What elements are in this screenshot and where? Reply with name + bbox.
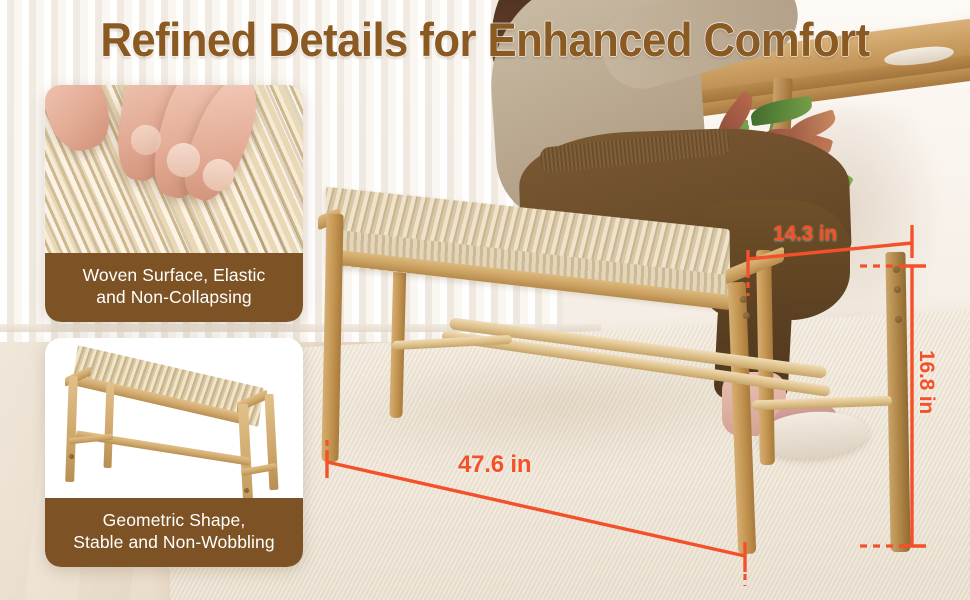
screw xyxy=(894,286,901,293)
screw xyxy=(69,454,74,459)
product-feature-banner: Refined Details for Enhanced Comfort Wov… xyxy=(0,0,970,600)
caption-line-2: Stable and Non-Wobbling xyxy=(55,531,293,553)
feature-card-geometric-shape: Geometric Shape, Stable and Non-Wobbling xyxy=(45,338,303,567)
screw xyxy=(244,488,249,493)
screw xyxy=(895,316,902,323)
feature-card-woven-surface: Woven Surface, Elastic and Non-Collapsin… xyxy=(45,85,303,322)
depth-dimension-label: 14.3 in xyxy=(773,222,837,246)
feature-card-caption: Woven Surface, Elastic and Non-Collapsin… xyxy=(45,253,303,322)
caption-line-1: Geometric Shape, xyxy=(55,509,293,531)
caption-line-2: and Non-Collapsing xyxy=(55,286,293,308)
feature-card-caption: Geometric Shape, Stable and Non-Wobbling xyxy=(45,498,303,567)
screw xyxy=(743,312,750,319)
width-dimension-label: 47.6 in xyxy=(458,451,531,479)
screw xyxy=(740,296,747,303)
screw xyxy=(893,266,900,273)
woven-surface-closeup-photo xyxy=(45,85,303,253)
page-title: Refined Details for Enhanced Comfort xyxy=(34,16,936,63)
caption-line-1: Woven Surface, Elastic xyxy=(55,264,293,286)
bench-product-photo xyxy=(45,338,303,498)
height-dimension-label: 16.8 in xyxy=(914,350,938,414)
